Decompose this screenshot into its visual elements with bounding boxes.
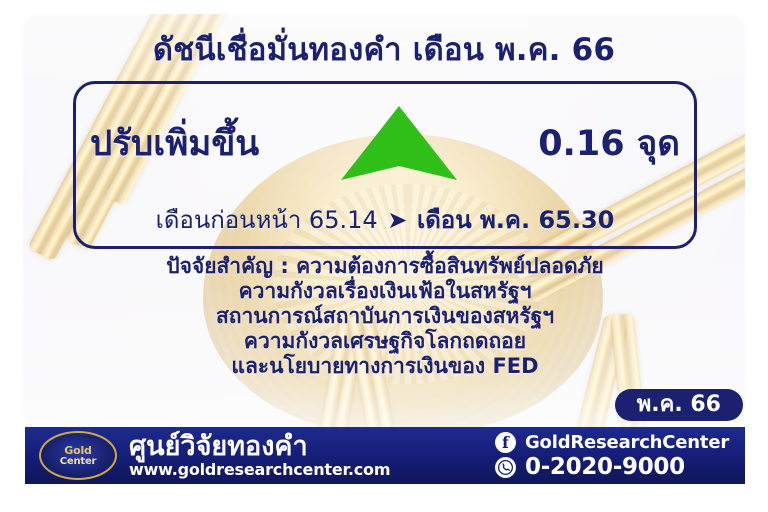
- direction-label: ปรับเพิ่มขึ้น: [90, 116, 259, 171]
- factor-line: และนโยบายทางการเงินของ FED: [40, 354, 730, 379]
- previous-month-value: เดือนก่อนหน้า 65.14: [156, 206, 378, 234]
- logo-text-center: Center: [60, 456, 97, 467]
- page-title: ดัชนีเชื่อมั่นทองคำ เดือน พ.ค. 66: [0, 24, 768, 74]
- factor-line: สถานการณ์สถาบันการเงินของสหรัฐฯ: [40, 304, 730, 329]
- phone-number: 0-2020-9000: [525, 455, 685, 479]
- factor-line: ความกังวลเรื่องเงินเฟ้อในสหรัฐฯ: [40, 279, 730, 304]
- facebook-handle: GoldResearchCenter: [525, 432, 729, 453]
- logo-text-gold: Gold: [64, 445, 91, 456]
- phone-glyph: [498, 460, 513, 475]
- brand-block: ศูนย์วิจัยทองคำ www.goldresearchcenter.c…: [129, 432, 390, 479]
- phone-contact-row[interactable]: 0-2020-9000: [495, 455, 729, 479]
- brand-name: ศูนย์วิจัยทองคำ: [129, 432, 390, 461]
- infographic-root: ดัชนีเชื่อมั่นทองคำ เดือน พ.ค. 66 ปรับเพ…: [0, 0, 768, 512]
- phone-icon: [495, 457, 516, 478]
- arrow-right-icon: ➤: [385, 206, 409, 234]
- facebook-glyph: f: [502, 435, 509, 451]
- arrow-up-icon: [340, 104, 458, 182]
- hero-row: ปรับเพิ่มขึ้น 0.16 จุด: [90, 108, 680, 178]
- current-month-value: เดือน พ.ค. 65.30: [417, 206, 614, 234]
- gold-center-logo: Gold Center: [39, 431, 117, 480]
- comparison-line: เดือนก่อนหน้า 65.14 ➤ เดือน พ.ค. 65.30: [73, 200, 697, 239]
- index-change-value: 0.16 จุด: [538, 116, 680, 171]
- factor-line: ปัจจัยสำคัญ : ความต้องการซื้อสินทรัพย์ปล…: [40, 254, 730, 279]
- facebook-contact-row[interactable]: f GoldResearchCenter: [495, 432, 729, 453]
- facebook-icon: f: [495, 432, 516, 453]
- brand-website-url[interactable]: www.goldresearchcenter.com: [129, 461, 390, 479]
- factor-line: ความกังวลเศรษฐกิจโลกถดถอย: [40, 329, 730, 354]
- contact-block: f GoldResearchCenter 0-2020-9000: [495, 432, 729, 479]
- footer-bar: Gold Center ศูนย์วิจัยทองคำ www.goldrese…: [25, 427, 745, 484]
- month-badge: พ.ค. 66: [615, 389, 743, 421]
- key-factors-list: ปัจจัยสำคัญ : ความต้องการซื้อสินทรัพย์ปล…: [40, 254, 730, 379]
